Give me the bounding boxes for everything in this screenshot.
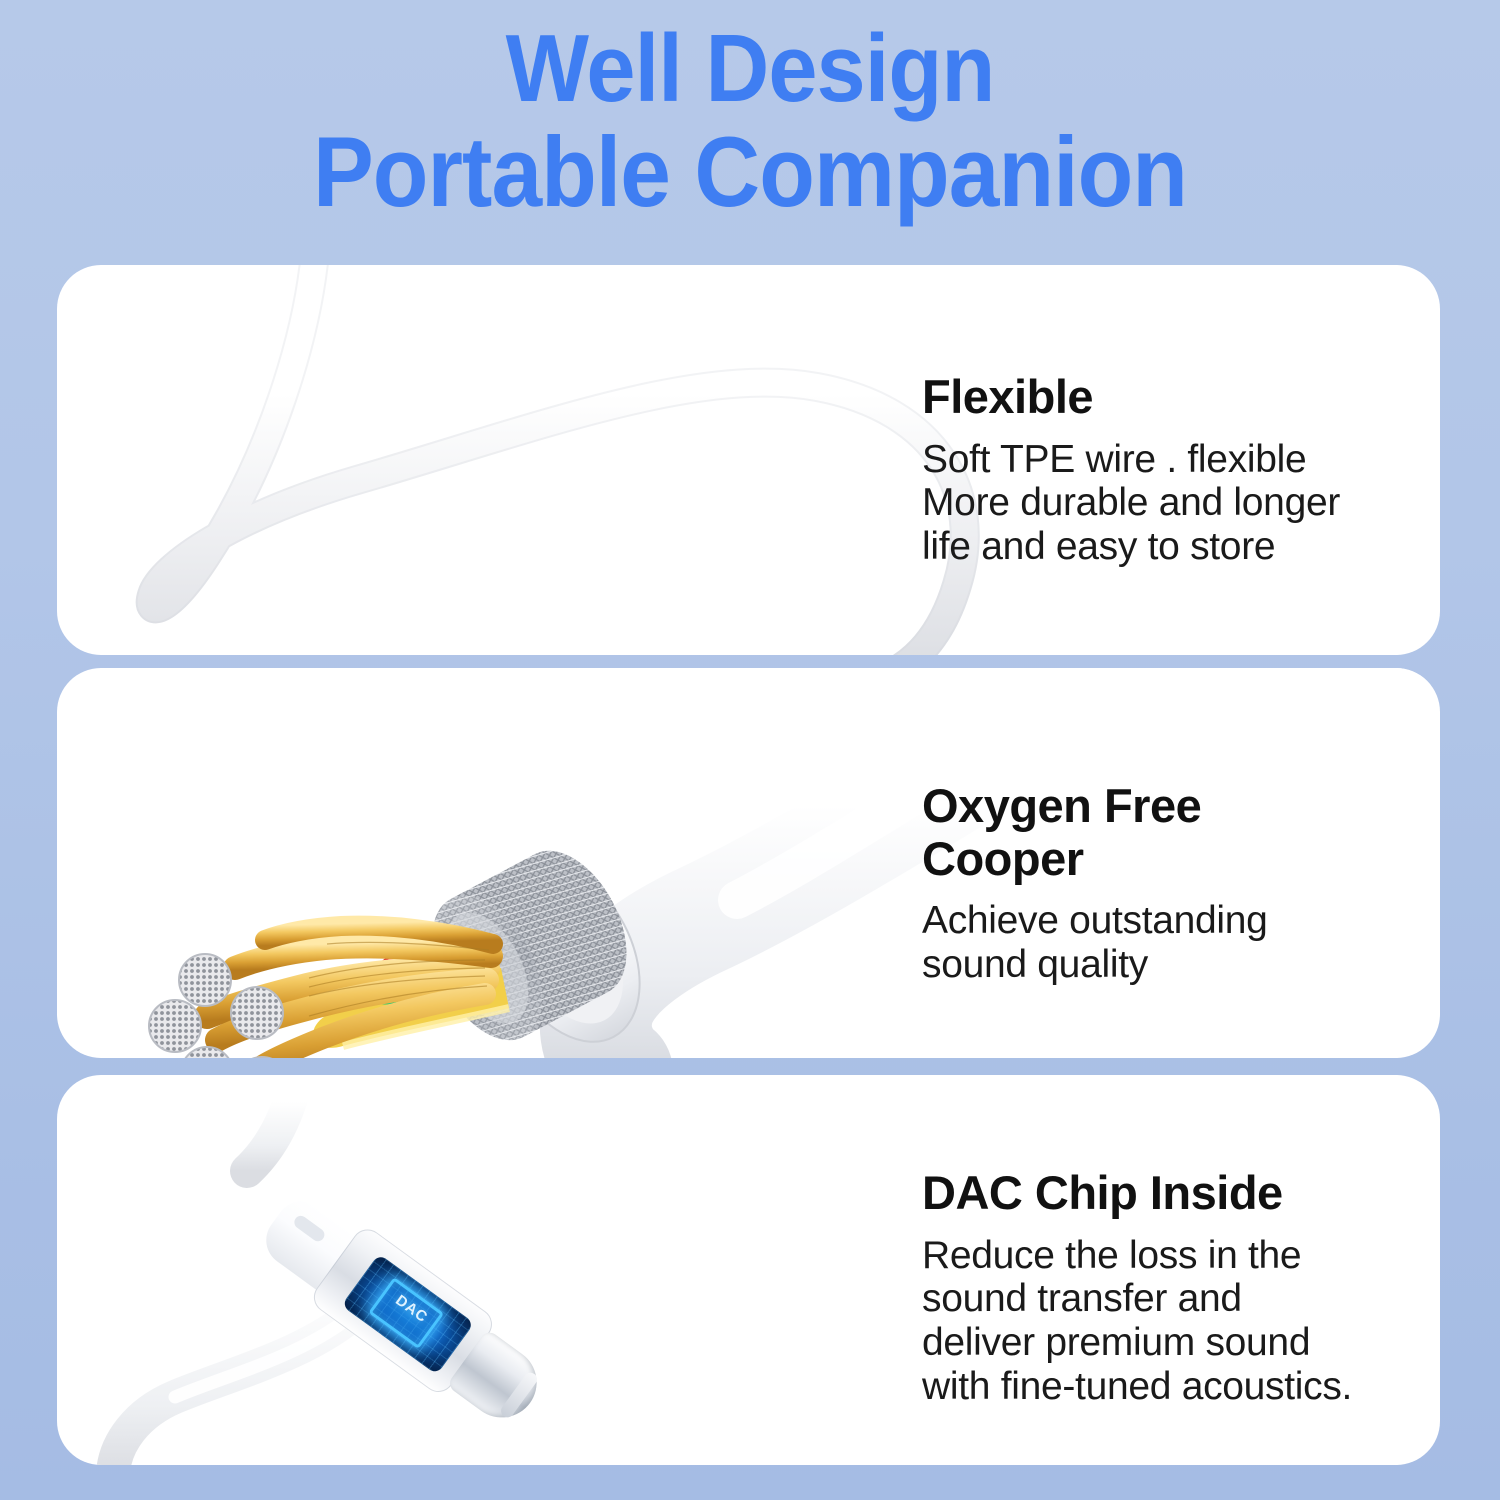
feature-body-line: More durable and longer	[922, 481, 1422, 525]
feature-body: Reduce the loss in the sound transfer an…	[922, 1234, 1422, 1409]
feature-title: Oxygen Free Cooper	[922, 780, 1422, 885]
feature-body-line: life and easy to store	[922, 525, 1422, 569]
feature-title: Flexible	[922, 371, 1422, 424]
feature-title-line: Oxygen Free	[922, 780, 1422, 833]
feature-text-flexible: Flexible Soft TPE wire . flexible More d…	[922, 371, 1422, 569]
feature-title-line: Cooper	[922, 833, 1422, 886]
feature-body: Soft TPE wire . flexible More durable an…	[922, 438, 1422, 569]
feature-card-oxygen-free-cooper: Oxygen Free Cooper Achieve outstanding s…	[57, 668, 1440, 1058]
feature-body-line: sound quality	[922, 943, 1422, 987]
feature-body: Achieve outstanding sound quality	[922, 899, 1422, 986]
title-line-1: Well Design	[60, 18, 1440, 120]
feature-body-line: Soft TPE wire . flexible	[922, 438, 1422, 482]
feature-body-line: with fine-tuned acoustics.	[922, 1365, 1422, 1409]
feature-text-dac-chip-inside: DAC Chip Inside Reduce the loss in the s…	[922, 1167, 1422, 1408]
feature-body-line: deliver premium sound	[922, 1321, 1422, 1365]
feature-body-line: Achieve outstanding	[922, 899, 1422, 943]
copper-bundles	[149, 926, 493, 1058]
feature-card-flexible: Flexible Soft TPE wire . flexible More d…	[57, 265, 1440, 655]
feature-title: DAC Chip Inside	[922, 1167, 1422, 1220]
feature-text-oxygen-free-cooper: Oxygen Free Cooper Achieve outstanding s…	[922, 780, 1422, 987]
feature-body-line: sound transfer and	[922, 1277, 1422, 1321]
feature-body-line: Reduce the loss in the	[922, 1234, 1422, 1278]
feature-card-dac-chip-inside: DAC Chip Inside Reduce the loss in the s…	[57, 1075, 1440, 1465]
page-title: Well Design Portable Companion	[0, 18, 1500, 225]
title-line-2: Portable Companion	[60, 120, 1440, 225]
